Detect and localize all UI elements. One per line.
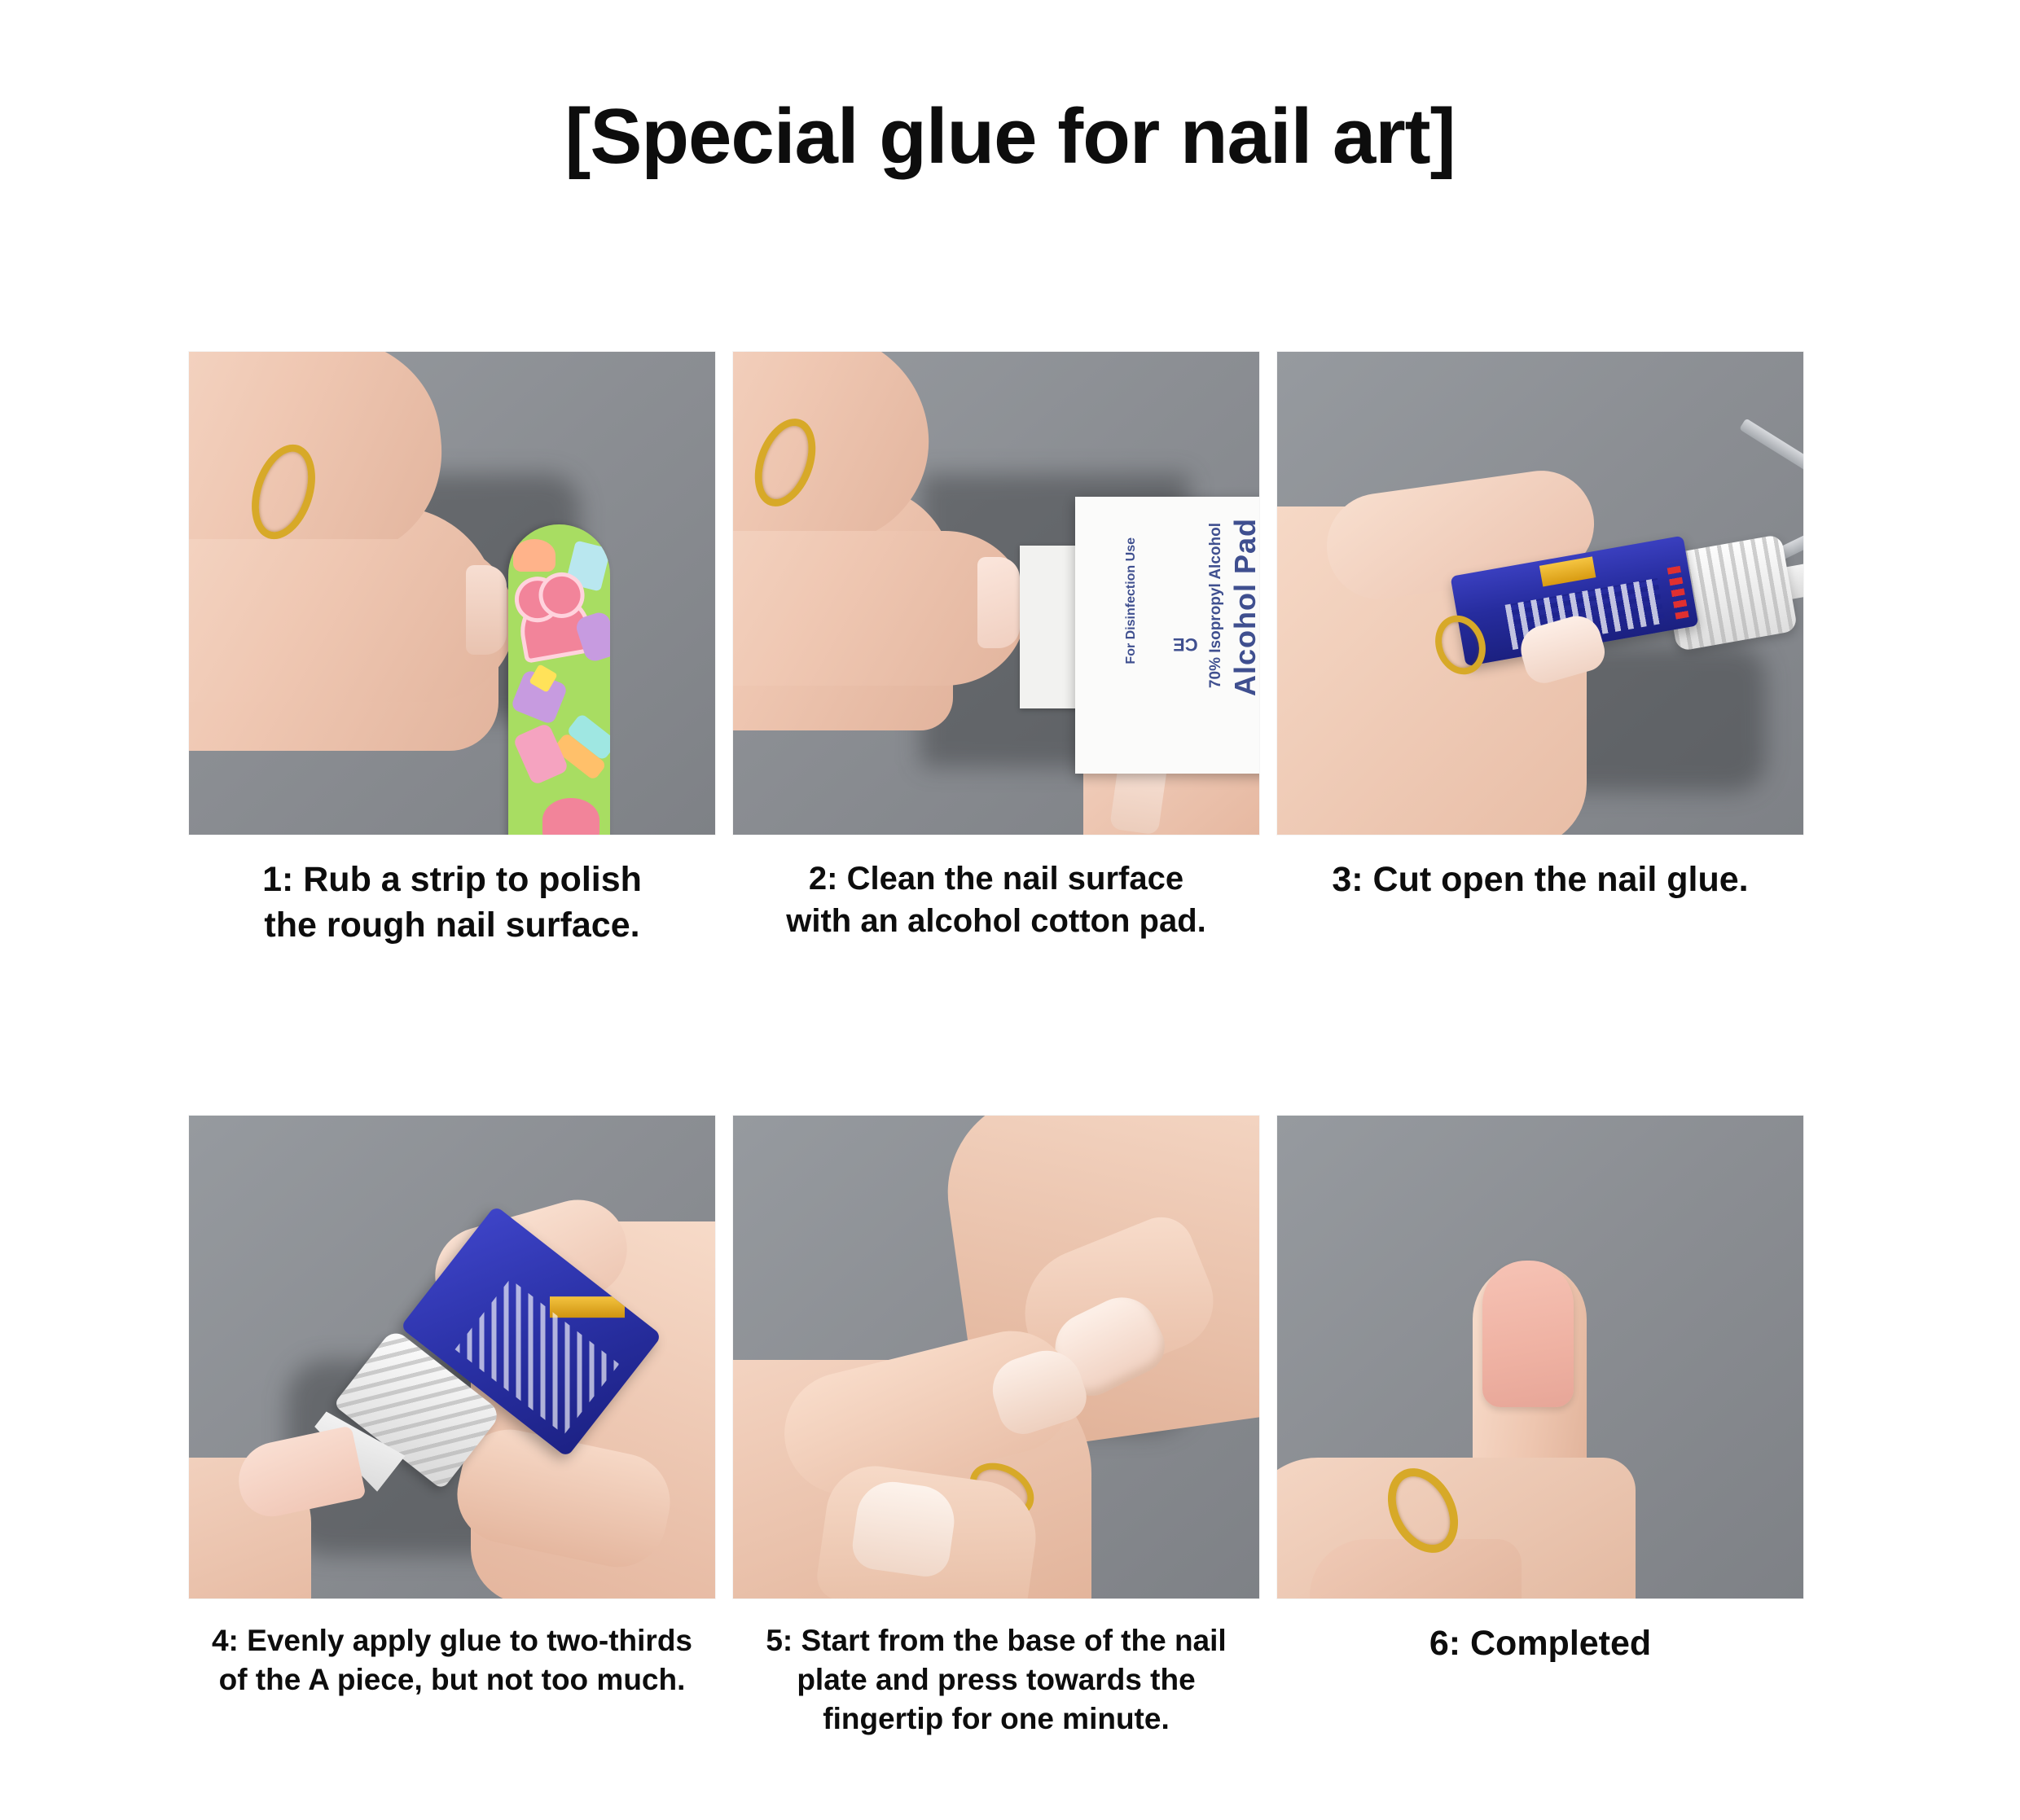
step-caption-4: 4: Evenly apply glue to two-thirds of th… bbox=[189, 1599, 715, 1699]
steps-grid: 1: Rub a strip to polish the rough nail … bbox=[189, 352, 1803, 1739]
alcohol-pad-title: Alcohol Pad bbox=[1228, 518, 1259, 696]
step-photo-4 bbox=[189, 1116, 715, 1599]
step-caption-6: 6: Completed bbox=[1277, 1599, 1803, 1667]
step-caption-2: 2: Clean the nail surface with an alcoho… bbox=[733, 835, 1259, 942]
glue-red-text bbox=[1666, 561, 1689, 620]
row-spacer bbox=[733, 949, 1259, 1116]
glue-gold-stripe bbox=[550, 1296, 625, 1318]
step-photo-6 bbox=[1277, 1116, 1803, 1599]
step-card-6: 6: Completed bbox=[1277, 1116, 1803, 1739]
alcohol-pad-usage: For Disinfection Use bbox=[1124, 537, 1139, 664]
natural-nail bbox=[977, 557, 1020, 648]
ce-mark-icon: CE bbox=[1173, 634, 1198, 655]
step-card-5: 5: Start from the base of the nail plate… bbox=[733, 1116, 1259, 1739]
step-card-1: 1: Rub a strip to polish the rough nail … bbox=[189, 352, 715, 949]
finished-nail bbox=[1482, 1261, 1574, 1407]
step-photo-2: Alcohol Pad 70% Isopropyl Alcohol For Di… bbox=[733, 352, 1259, 835]
natural-nail bbox=[466, 565, 507, 655]
row-spacer bbox=[189, 949, 715, 1116]
step-photo-1 bbox=[189, 352, 715, 835]
step-card-3: 3: Cut open the nail glue. bbox=[1277, 352, 1803, 949]
step-caption-1: 1: Rub a strip to polish the rough nail … bbox=[189, 835, 715, 949]
alcohol-pad-subtitle: 70% Isopropyl Alcohol bbox=[1207, 523, 1225, 688]
step-card-2: Alcohol Pad 70% Isopropyl Alcohol For Di… bbox=[733, 352, 1259, 949]
step-caption-5: 5: Start from the base of the nail plate… bbox=[733, 1599, 1259, 1739]
page-title: [Special glue for nail art] bbox=[0, 98, 2020, 176]
step-caption-3: 3: Cut open the nail glue. bbox=[1277, 835, 1803, 903]
step-card-4: 4: Evenly apply glue to two-thirds of th… bbox=[189, 1116, 715, 1739]
row-spacer bbox=[1277, 949, 1803, 1116]
alcohol-pad-package: Alcohol Pad 70% Isopropyl Alcohol For Di… bbox=[1075, 497, 1259, 774]
step-photo-5 bbox=[733, 1116, 1259, 1599]
glue-gold-stripe bbox=[1539, 556, 1596, 586]
step-photo-3 bbox=[1277, 352, 1803, 835]
nail-file-strip bbox=[508, 524, 610, 835]
